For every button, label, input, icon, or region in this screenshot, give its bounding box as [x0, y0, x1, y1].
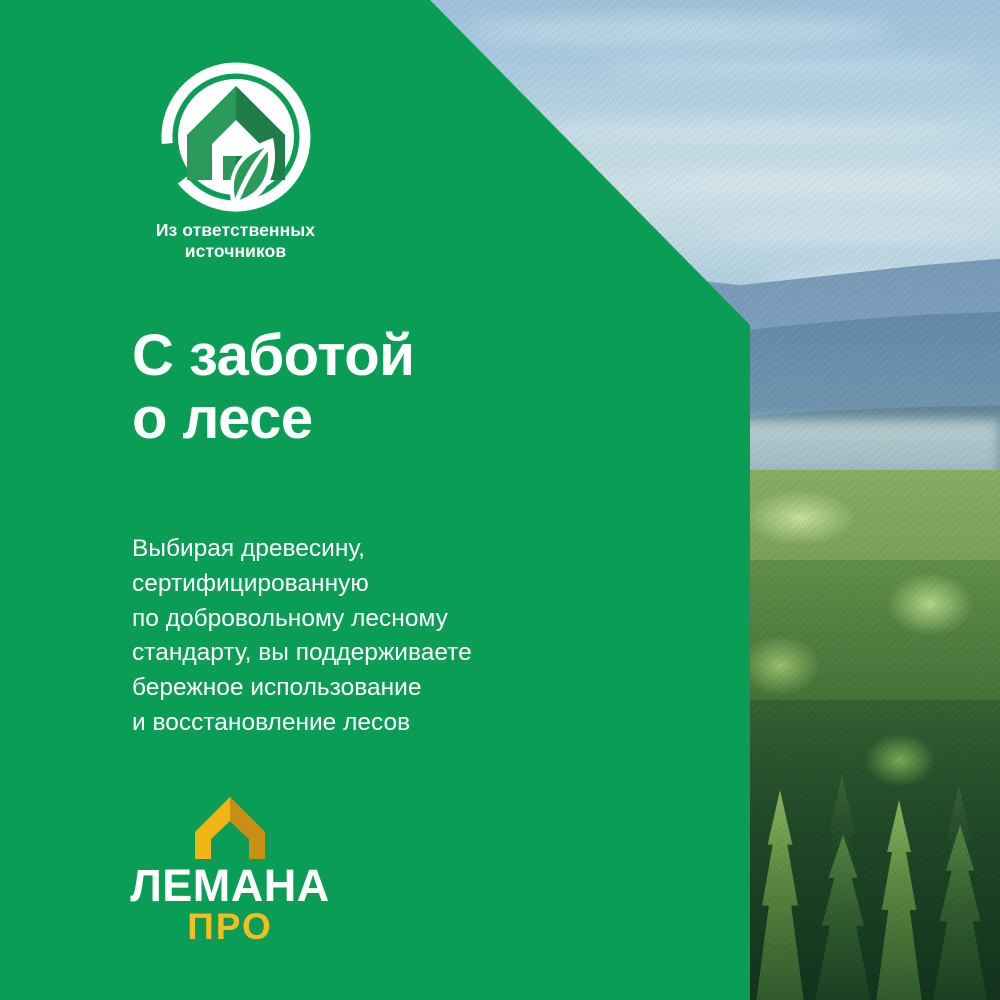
promo-poster: Из ответственных источников С заботой о …: [0, 0, 1000, 1000]
badge-caption-line-2: источников: [128, 241, 343, 262]
page-title: С заботой о лесе: [132, 325, 414, 450]
description-text: Выбирая древесину, сертифицированную по …: [132, 532, 472, 741]
poster-content: Из ответственных источников С заботой о …: [0, 0, 750, 1000]
brand-lockup: ЛЕМАНА ПРО: [130, 795, 330, 945]
brand-name: ЛЕМАНА: [130, 865, 330, 908]
tree: [872, 800, 926, 1000]
tree: [928, 825, 992, 1000]
badge-caption-line-1: Из ответственных: [128, 220, 343, 241]
badge-caption: Из ответственных источников: [128, 220, 343, 263]
house-leaf-circle-logo: [161, 62, 311, 212]
tree: [752, 790, 808, 1000]
lemana-house-icon: [193, 795, 267, 861]
brand-suffix: ПРО: [130, 908, 330, 945]
responsible-sources-badge: Из ответственных источников: [128, 62, 343, 263]
tree: [810, 835, 876, 1000]
